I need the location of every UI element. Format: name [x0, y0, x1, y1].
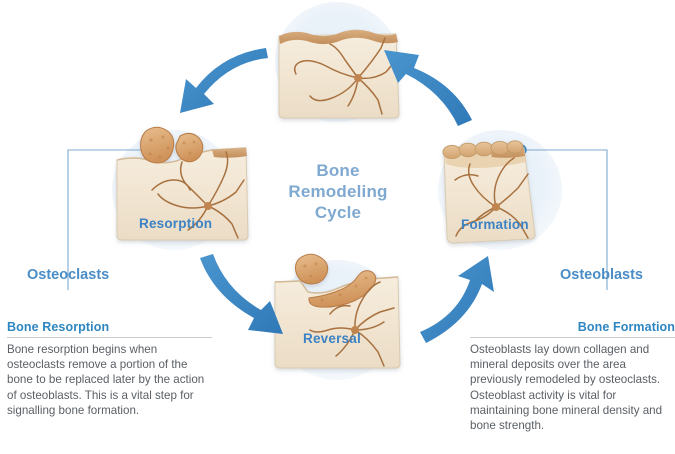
description-title-bone-formation: Bone Formation [470, 320, 675, 337]
reversal-cell-chain [309, 271, 376, 307]
description-title-bone-resorption: Bone Resorption [7, 320, 212, 337]
center-title-line-2: Remodeling [268, 181, 408, 202]
reversal-cell-detached [296, 254, 328, 284]
stage-label-resorption: Resorption [139, 216, 212, 231]
resorption-osteocyte [204, 202, 212, 210]
callout-dots [148, 145, 525, 154]
stage-label-formation: Formation [461, 217, 529, 232]
formation-new-matrix [444, 148, 526, 168]
halo-formation [438, 130, 562, 250]
reversal-face [275, 277, 400, 368]
quiescence-top-surface [279, 30, 398, 44]
callout-label-osteoclasts: Osteoclasts [27, 267, 109, 283]
description-bone-resorption: Bone Resorption Bone resorption begins w… [7, 320, 212, 418]
reversal-mononuclear-cells [296, 254, 376, 307]
halo-quiescence [275, 2, 399, 122]
description-rule-right [470, 337, 675, 338]
resorption-top-remnant [212, 148, 247, 158]
formation-osteocyte [492, 203, 500, 211]
bone-block-quiescence [279, 30, 399, 118]
halo-resorption [112, 130, 236, 250]
arrow-resorption-to-reversal [200, 254, 283, 334]
quiescence-face [279, 34, 399, 118]
reversal-cell-detached-texture [303, 263, 317, 278]
osteoclast-cells [141, 127, 203, 163]
formation-top-surface [490, 148, 525, 158]
center-title-line-1: Bone [268, 160, 408, 181]
osteoclast-large-texture [149, 136, 170, 159]
osteoblast-cells [443, 141, 523, 159]
description-body-bone-resorption: Bone resorption begins when osteoclasts … [7, 342, 212, 418]
resorption-pit-edge [117, 148, 246, 163]
callout-dot-osteoclasts [148, 145, 157, 154]
reversal-pit-edge [275, 277, 398, 293]
description-body-bone-formation: Osteoblasts lay down collagen and minera… [470, 342, 675, 433]
stage-label-reversal: Reversal [303, 331, 361, 346]
halo-reversal [275, 260, 399, 380]
description-rule-left [7, 337, 212, 338]
description-bone-formation: Bone Formation Osteoblasts lay down coll… [470, 320, 675, 433]
osteoclast-cell-large [141, 127, 174, 163]
bone-remodeling-diagram: Bone Remodeling Cycle Resorption Formati… [0, 0, 675, 454]
reversal-canaliculi [310, 282, 394, 366]
quiescence-osteocyte [354, 74, 362, 82]
quiescence-canaliculi [295, 38, 396, 114]
callout-dot-osteoblasts [516, 145, 525, 154]
osteoclast-small-texture [183, 141, 196, 155]
arrow-quiescence-to-resorption [180, 48, 268, 113]
center-title-line-3: Cycle [268, 202, 408, 223]
osteoclast-cell-small [176, 133, 203, 161]
reversal-cell-chain-texture [320, 277, 367, 302]
callout-label-osteoblasts: Osteoblasts [560, 267, 643, 283]
bone-block-reversal [275, 254, 400, 368]
arrow-formation-to-quiescence [384, 50, 472, 126]
center-title: Bone Remodeling Cycle [268, 160, 408, 223]
